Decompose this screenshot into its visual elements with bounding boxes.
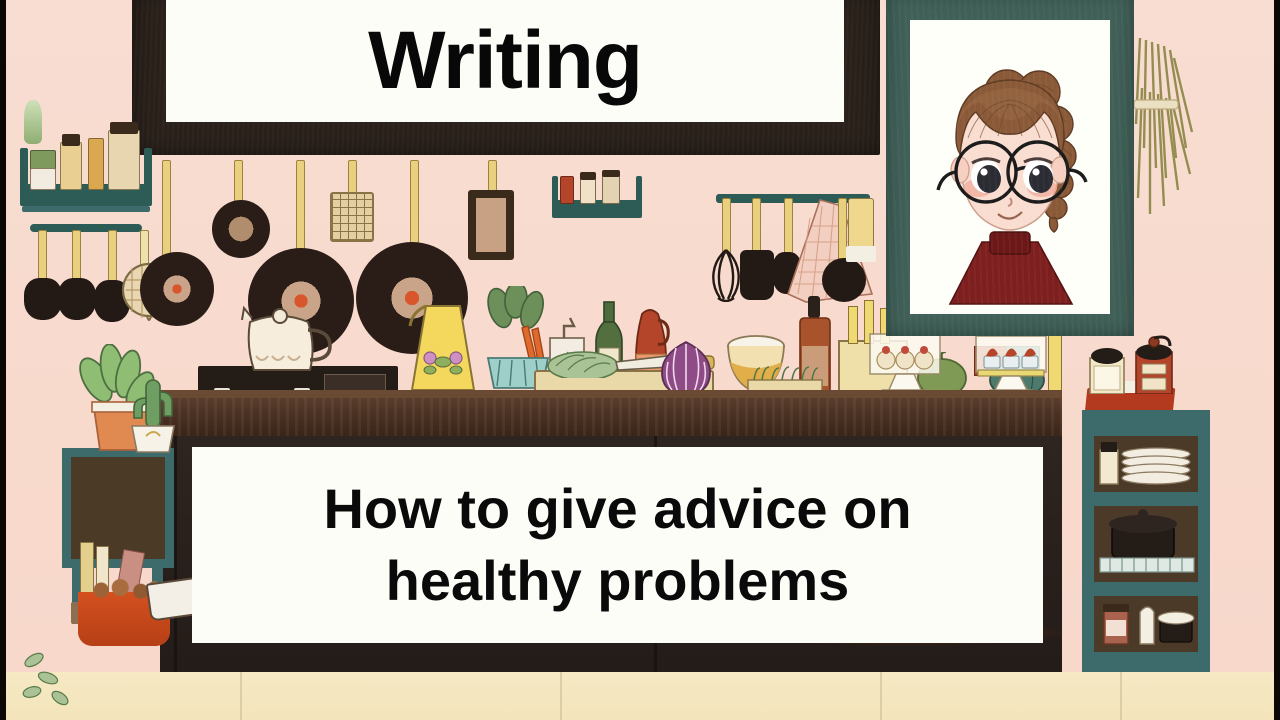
plates-stack-icon [1098,440,1196,488]
spice-jar-icon [602,174,620,204]
sauce-bottle-icon [560,176,574,204]
left-shelf-rail-plate [22,206,150,212]
grain-jar-icon [108,130,140,190]
spice-jar-icon [580,178,596,204]
red-onion-icon [660,340,712,396]
coffee-grinder-icon [1128,330,1182,394]
caddy-stick-icon [848,306,858,344]
bottle-label [846,246,876,262]
cactus-icon [122,376,184,456]
yellow-kettle-icon [404,300,480,396]
picture-hook [488,160,497,194]
oil-bottle-icon [88,138,104,190]
utensil-handle [38,230,47,282]
frying-pan-icon [140,252,214,326]
bottle-cap-icon [62,134,80,146]
cream-teapot-icon [228,304,338,374]
scattered-leaves-icon [20,648,100,708]
subtitle-line-2: healthy problems [386,545,850,617]
small-pan-icon [212,200,270,258]
rack-hook [348,160,357,196]
picture-mat [910,20,1110,314]
spice-lid-icon [580,172,596,180]
jar-label [30,168,56,190]
dutch-oven-icon [1098,506,1198,574]
canister-icon [1084,344,1130,394]
cooling-rack-icon [330,192,374,242]
cabbage-icon [546,344,620,378]
subtitle-box: How to give advice on healthy problems [192,447,1043,643]
honey-bottle-icon [60,142,82,190]
picture-frame [886,0,1134,336]
sprout-icon [24,100,42,144]
shelf-jars-icon [1100,600,1196,646]
utensil-handle [108,230,117,284]
right-edge-border [1274,0,1280,720]
cake-stand-icon [972,334,1050,398]
left-edge-border [0,0,6,720]
utensil-handle [72,230,81,282]
left-shelf-side [144,148,152,190]
avatar [910,20,1110,314]
spatula-handle [752,198,761,254]
spatula-icon [58,278,96,320]
dried-wheat-bundle-icon [1134,28,1206,238]
subtitle-line-1: How to give advice on [323,473,911,545]
presentation-slide: Writing How to give advice on healthy pr… [0,0,1280,720]
page-title: Writing [368,20,642,102]
title-box: Writing [166,0,844,122]
side-table-box [62,448,174,568]
cake-stand-icon [866,330,944,398]
spice-shelf-side [552,176,558,204]
grain-jar-lid-icon [110,122,138,134]
small-frame-icon [468,190,514,260]
left-shelf-side [20,148,28,190]
spatula-icon [24,278,62,320]
spatula-icon [740,250,774,300]
whisk-handle [722,198,731,254]
pan-handle [296,160,305,256]
kitchen-counter [160,398,1062,436]
spice-lid-icon [602,170,620,177]
spice-shelf-side [636,176,642,204]
kitchen-floor [0,672,1280,720]
